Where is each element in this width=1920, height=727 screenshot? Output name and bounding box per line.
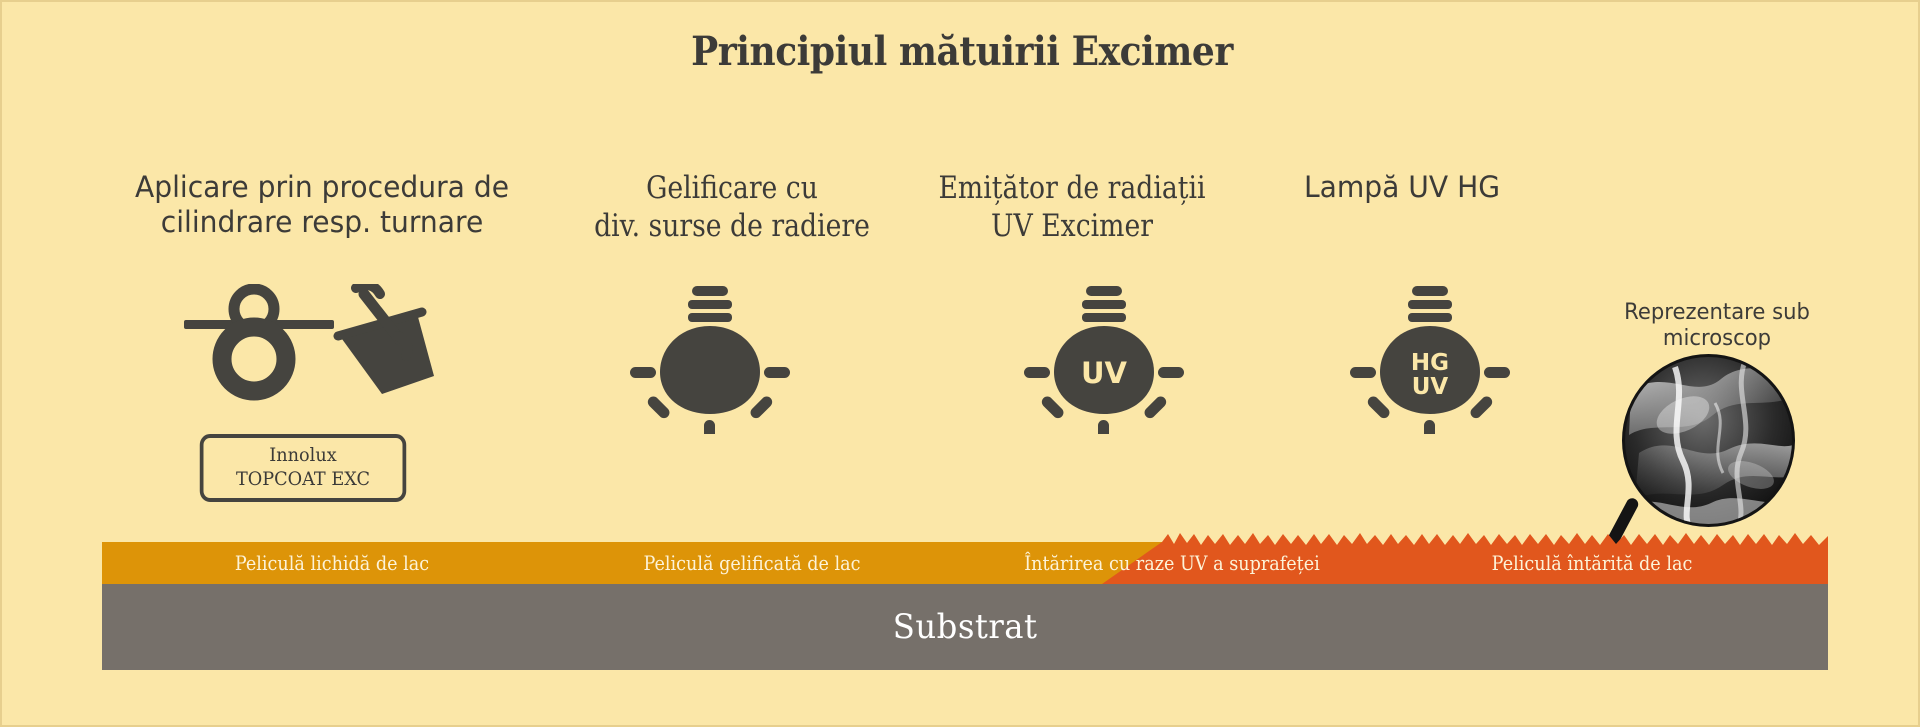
substrate-layer: Substrat	[102, 584, 1828, 670]
product-box-innolux: Innolux TOPCOAT EXC	[200, 434, 406, 502]
layer-label-uv-curing: Întărirea cu raze UV a suprafeței	[987, 542, 1357, 584]
column-heading-line-2: UV Excimer	[891, 208, 1252, 246]
microscope-surface-texture	[1625, 357, 1795, 527]
excimer-icon-slot: UV	[1024, 284, 1184, 434]
layer-label-gelled: Peliculă gelificată de lac	[567, 542, 937, 584]
column-heading-application: Aplicare prin procedura de cilindrare re…	[50, 170, 593, 241]
lightbulb-uv-icon: UV	[1024, 284, 1184, 434]
bulb-label-hg: HG	[1411, 350, 1449, 376]
layer-label-liquid: Peliculă lichidă de lac	[147, 542, 517, 584]
product-name: Innolux	[269, 444, 336, 468]
lightbulb-hg-uv-icon: HG UV	[1350, 284, 1510, 434]
bulb-label-uv: UV	[1412, 374, 1449, 400]
roller-icon	[184, 289, 334, 391]
roller-and-bucket-icons	[182, 284, 442, 404]
lightbulb-icon	[630, 284, 790, 434]
column-heading-line-2: cilindrare resp. turnare	[50, 205, 593, 240]
hg-lamp-icon-slot: HG UV	[1350, 284, 1510, 434]
product-variant: TOPCOAT EXC	[236, 468, 370, 492]
infographic-root: Principiul mătuirii Excimer Aplicare pri…	[0, 0, 1920, 727]
substrate-label: Substrat	[893, 607, 1038, 647]
layer-label-cured: Peliculă întărită de lac	[1407, 542, 1777, 584]
gelling-icon-slot	[630, 284, 790, 434]
column-heading-line-1: Aplicare prin procedura de	[50, 170, 593, 205]
microscope-label: Reprezentare sub microscop	[1597, 300, 1837, 353]
column-heading-line-1: Gelificare cu	[551, 170, 912, 208]
microscope-label-line-1: Reprezentare sub	[1597, 300, 1837, 326]
column-heading-line-2: div. surse de radiere	[551, 208, 912, 246]
bulb-label-uv: UV	[1081, 356, 1128, 390]
microscope-view-circle	[1622, 354, 1795, 527]
coating-stack: Peliculă lichidă de lac Peliculă gelific…	[102, 542, 1828, 682]
microscope-label-line-2: microscop	[1597, 326, 1837, 352]
column-heading-line-1: Lampă UV HG	[1198, 170, 1605, 205]
column-heading-gelling: Gelificare cu div. surse de radiere	[551, 170, 912, 246]
page-title: Principiul mătuirii Excimer	[98, 28, 1826, 75]
column-heading-hg-lamp: Lampă UV HG	[1198, 170, 1605, 205]
application-icons	[182, 284, 442, 404]
paint-bucket-icon	[338, 285, 434, 394]
